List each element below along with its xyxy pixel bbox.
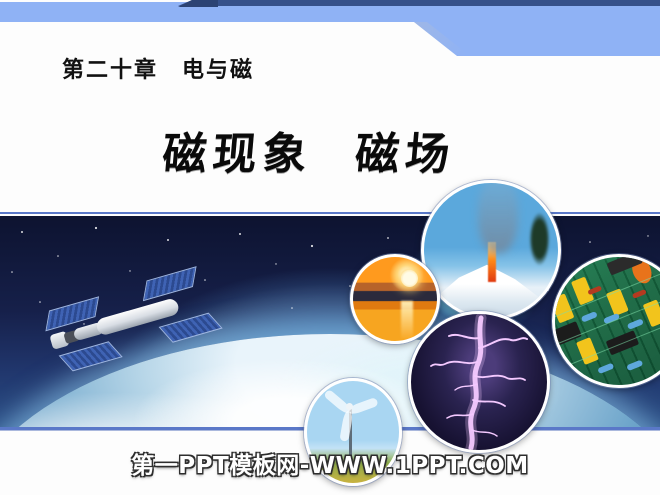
foreground-tree xyxy=(529,212,550,266)
lightning-strike-photo xyxy=(408,311,550,453)
volcano-eruption-photo xyxy=(421,180,561,320)
turbine-blade xyxy=(323,388,352,414)
solar-panel xyxy=(59,341,123,371)
top-navy-band xyxy=(178,0,660,6)
circuit-components-icon xyxy=(555,257,660,385)
watermark-text: 第一PPT模板网-WWW.1PPT.COM xyxy=(131,446,528,480)
presentation-slide: 第二十章 电与磁 磁现象 磁场 xyxy=(0,0,660,495)
photo-panel-top-rule xyxy=(0,212,660,214)
sun-disc xyxy=(401,270,418,287)
solar-panel xyxy=(159,313,223,343)
solar-panel xyxy=(143,266,197,301)
lightning-bolt-icon xyxy=(411,314,547,450)
ash-plume xyxy=(478,180,518,253)
page-title: 磁现象 磁场 xyxy=(160,118,458,182)
chapter-title: 第二十章 电与磁 xyxy=(62,52,254,84)
